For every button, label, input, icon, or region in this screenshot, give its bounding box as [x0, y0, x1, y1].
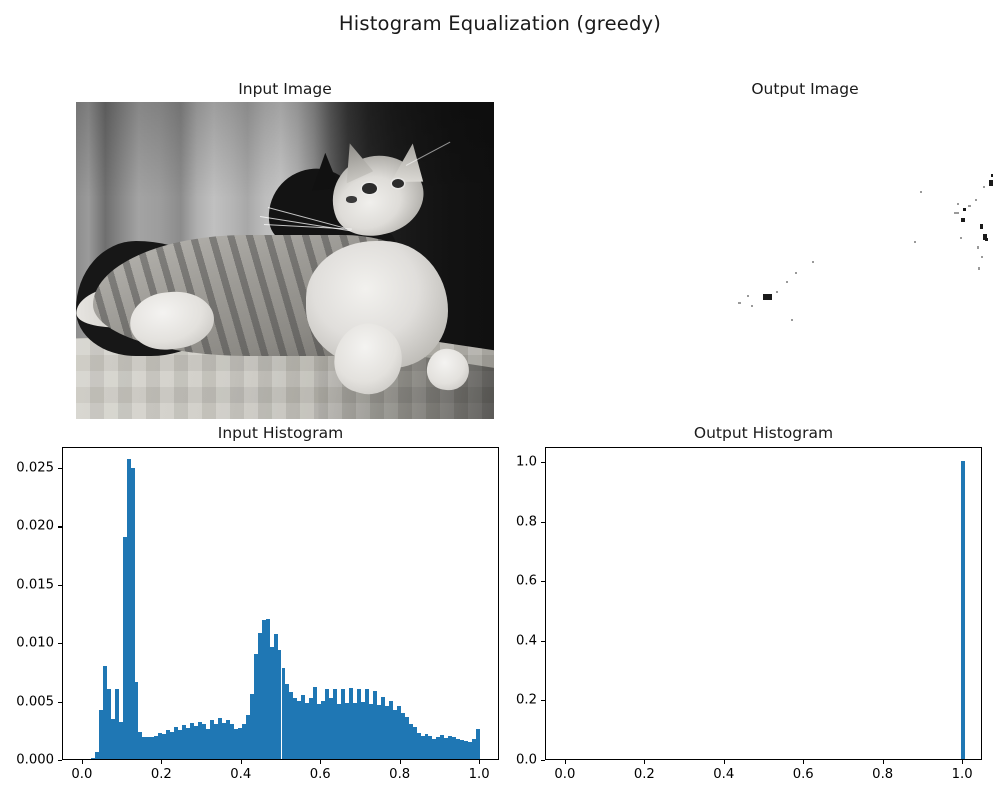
speck	[738, 302, 741, 304]
speck	[981, 256, 983, 258]
xtick-mark	[479, 760, 480, 764]
xtick-label: 0.8	[872, 767, 893, 782]
ytick-mark	[541, 760, 545, 761]
xtick-label: 1.0	[952, 767, 973, 782]
ytick-mark	[58, 760, 62, 761]
figure-suptitle: Histogram Equalization (greedy)	[0, 12, 1000, 35]
xtick-mark	[320, 760, 321, 764]
ytick-mark	[541, 462, 545, 463]
xtick-mark	[724, 760, 725, 764]
ytick-label: 0.6	[497, 574, 537, 589]
input-histogram-title: Input Histogram	[62, 424, 499, 442]
output-histogram-bars	[546, 448, 981, 759]
ytick-mark	[58, 702, 62, 703]
speck	[991, 174, 993, 177]
ytick-mark	[58, 643, 62, 644]
ytick-mark	[58, 585, 62, 586]
speck	[963, 208, 966, 211]
speck	[763, 294, 772, 300]
xtick-mark	[803, 760, 804, 764]
speck	[920, 191, 922, 193]
ytick-label: 0.020	[14, 519, 54, 534]
ytick-mark	[58, 468, 62, 469]
xtick-label: 0.2	[151, 767, 172, 782]
xtick-label: 0.4	[713, 767, 734, 782]
xtick-label: 0.6	[310, 767, 331, 782]
xtick-label: 0.0	[554, 767, 575, 782]
speck	[989, 180, 993, 186]
xtick-mark	[644, 760, 645, 764]
xtick-mark	[400, 760, 401, 764]
speck	[786, 281, 788, 283]
ytick-mark	[58, 526, 62, 527]
ytick-label: 0.2	[497, 693, 537, 708]
ytick-label: 0.025	[14, 461, 54, 476]
histogram-bar	[961, 461, 965, 759]
ytick-mark	[541, 700, 545, 701]
ytick-label: 0.0	[497, 753, 537, 768]
xtick-mark	[883, 760, 884, 764]
speck	[985, 238, 988, 241]
ytick-label: 0.000	[14, 753, 54, 768]
ytick-label: 0.4	[497, 633, 537, 648]
xtick-mark	[565, 760, 566, 764]
ytick-label: 1.0	[497, 454, 537, 469]
ytick-label: 0.005	[14, 694, 54, 709]
histogram-bar	[476, 729, 480, 759]
speck	[983, 186, 985, 188]
ytick-mark	[541, 581, 545, 582]
output-image	[730, 102, 1000, 419]
input-histogram-axes	[62, 447, 499, 760]
ytick-mark	[541, 641, 545, 642]
speck	[747, 295, 749, 297]
output-image-title: Output Image	[655, 80, 955, 98]
speck	[975, 199, 977, 201]
ytick-label: 0.010	[14, 636, 54, 651]
tabby-cat-nose	[346, 196, 357, 202]
output-histogram-title: Output Histogram	[545, 424, 982, 442]
ytick-mark	[541, 522, 545, 523]
speck	[914, 241, 916, 243]
xtick-label: 0.6	[793, 767, 814, 782]
ytick-label: 0.8	[497, 514, 537, 529]
speck	[957, 203, 959, 205]
speck	[751, 305, 753, 307]
input-image-title: Input Image	[76, 80, 494, 98]
tabby-cat-near-eye	[362, 183, 376, 194]
xtick-label: 0.2	[634, 767, 655, 782]
input-histogram-bars	[63, 448, 498, 759]
xtick-label: 0.4	[230, 767, 251, 782]
xtick-mark	[161, 760, 162, 764]
speck	[968, 205, 971, 207]
speck	[961, 218, 965, 222]
speck	[795, 272, 797, 274]
ytick-label: 0.015	[14, 577, 54, 592]
speck	[954, 212, 959, 214]
output-histogram-axes	[545, 447, 982, 760]
speck	[776, 291, 778, 293]
input-image	[76, 102, 494, 419]
xtick-mark	[241, 760, 242, 764]
xtick-label: 0.0	[71, 767, 92, 782]
output-image-canvas	[730, 102, 1000, 419]
xtick-label: 0.8	[389, 767, 410, 782]
speck	[977, 246, 979, 249]
speck	[812, 261, 814, 263]
xtick-mark	[962, 760, 963, 764]
speck	[980, 224, 983, 229]
matplotlib-figure: Histogram Equalization (greedy) Input Im…	[0, 0, 1000, 800]
speck	[978, 267, 980, 270]
speck	[791, 319, 793, 321]
xtick-label: 1.0	[469, 767, 490, 782]
speck	[960, 237, 962, 239]
xtick-mark	[82, 760, 83, 764]
